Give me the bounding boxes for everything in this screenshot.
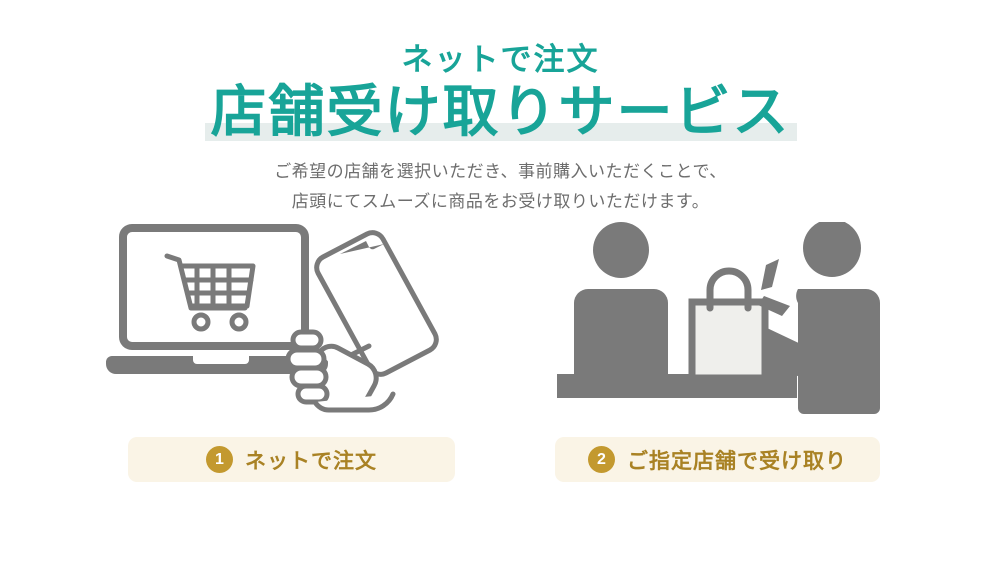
promo-banner: ネットで注文 店舗受け取りサービス ご希望の店舗を選択いただき、事前購入いただく…	[0, 0, 1001, 561]
shopping-bag-icon	[692, 271, 765, 378]
step-2-badge: 2	[588, 446, 615, 473]
hand-holding-phone-icon	[288, 233, 436, 410]
step-2-label: ご指定店舗で受け取り	[627, 445, 847, 475]
heading-block: ネットで注文 店舗受け取りサービス	[0, 44, 1001, 142]
subtitle: ご希望の店舗を選択いただき、事前購入いただくことで、 店頭にてスムーズに商品をお…	[0, 157, 1001, 217]
step-1-label: ネットで注文	[245, 445, 377, 475]
illustration-online-order	[105, 222, 485, 422]
subtitle-line-2: 店頭にてスムーズに商品をお受け取りいただけます。	[0, 187, 1001, 217]
step-1-pill[interactable]: 1 ネットで注文	[128, 437, 455, 482]
shopping-cart-icon	[167, 256, 253, 329]
illustration-store-pickup	[555, 222, 900, 422]
step-1-badge: 1	[206, 446, 233, 473]
main-title-wrap: 店舗受け取りサービス	[211, 83, 791, 142]
step-2-pill[interactable]: 2 ご指定店舗で受け取り	[555, 437, 880, 482]
eyebrow-title: ネットで注文	[0, 44, 1001, 75]
page-title: 店舗受け取りサービス	[211, 83, 791, 142]
staff-figure-icon	[574, 222, 668, 375]
subtitle-line-1: ご希望の店舗を選択いただき、事前購入いただくことで、	[0, 157, 1001, 187]
